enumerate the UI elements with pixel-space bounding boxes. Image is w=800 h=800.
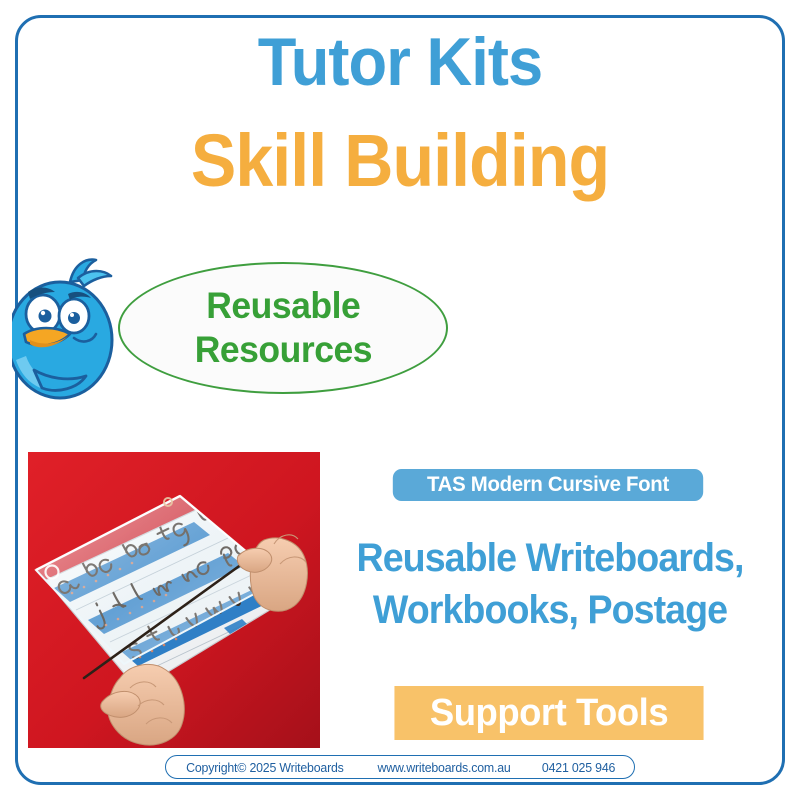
oval-label-line1: Reusable bbox=[206, 284, 360, 328]
product-headline-line2: Workbooks, Postage bbox=[334, 584, 766, 636]
poster-canvas: Tutor Kits Skill Building bbox=[0, 0, 800, 800]
product-headline: Reusable Writeboards, Workbooks, Postage bbox=[334, 532, 766, 636]
support-tools-banner: Support Tools bbox=[394, 686, 703, 740]
page-subtitle: Skill Building bbox=[32, 118, 768, 204]
tas-font-badge: TAS Modern Cursive Font bbox=[393, 469, 703, 501]
footer-phone[interactable]: 0421 025 946 bbox=[542, 760, 615, 775]
footer-contact-bar: Copyright© 2025 Writeboards www.writeboa… bbox=[165, 755, 635, 779]
reusable-resources-badge: Reusable Resources bbox=[118, 262, 448, 394]
oval-label-line2: Resources bbox=[194, 328, 371, 372]
product-photo bbox=[28, 452, 320, 748]
footer-copyright: Copyright© 2025 Writeboards bbox=[187, 760, 345, 775]
page-title: Tutor Kits bbox=[28, 22, 772, 102]
footer-website[interactable]: www.writeboards.com.au bbox=[378, 760, 511, 775]
product-headline-line1: Reusable Writeboards, bbox=[334, 532, 766, 584]
blue-bird-icon bbox=[12, 252, 120, 404]
